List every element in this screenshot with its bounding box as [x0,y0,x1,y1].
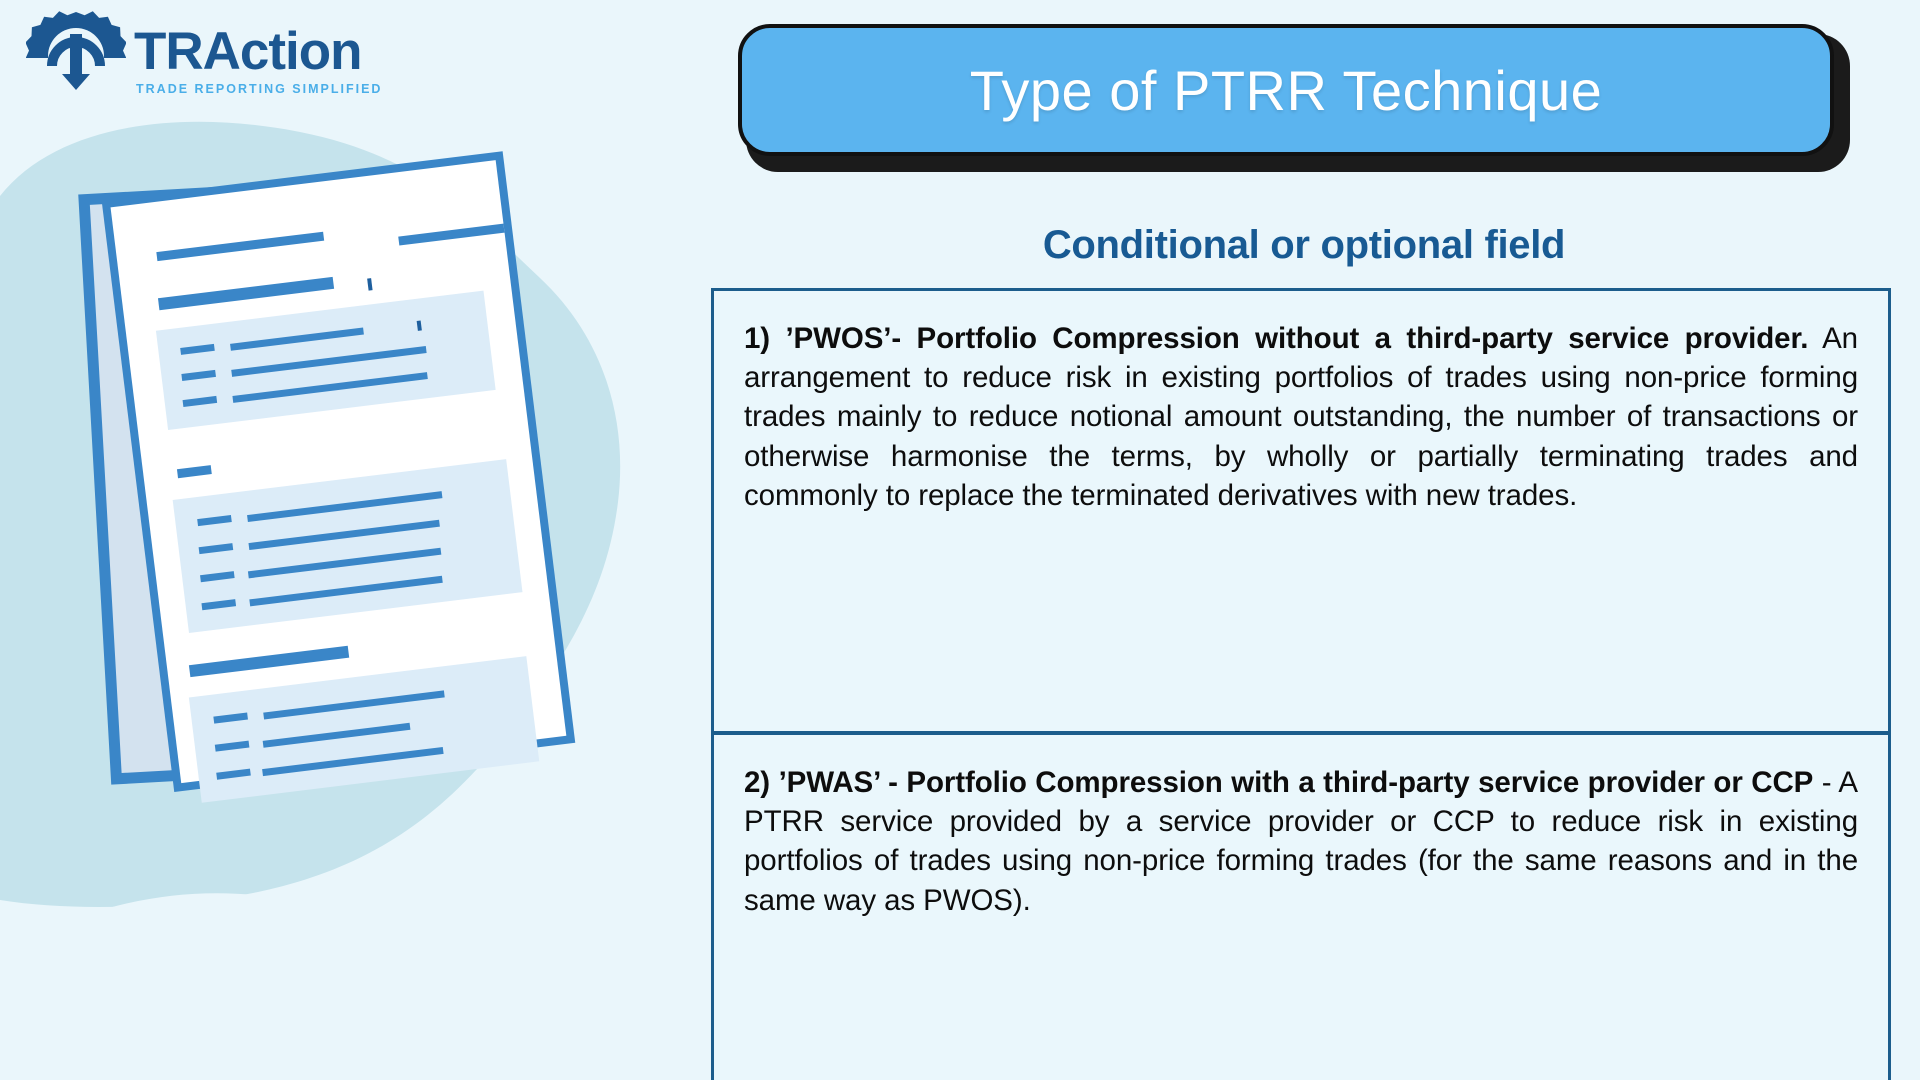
front-document [102,151,577,806]
banner-pill: Type of PTRR Technique [738,24,1834,156]
banner: Type of PTRR Technique [738,24,1850,172]
infographic-page: TRAction TRADE REPORTING SIMPLIFIED Type… [0,0,1920,1080]
section-heading: Conditional or optional field [718,223,1890,268]
stacked-documents-illustration [60,150,620,950]
logo-wordmark: TRAction TRADE REPORTING SIMPLIFIED [134,25,382,96]
definition-text-2: 2) ’PWAS’ - Portfolio Compression with a… [744,763,1858,920]
definition-term-2: 2) ’PWAS’ - Portfolio Compression with a… [744,766,1813,799]
definition-item-pwas: 2) ’PWAS’ - Portfolio Compression with a… [714,735,1888,1079]
gear-arrow-icon [24,8,128,108]
logo-name: TRAction [134,25,362,78]
definition-text-1: 1) ’PWOS’- Portfolio Compression without… [744,319,1858,515]
definitions-panel: 1) ’PWOS’- Portfolio Compression without… [711,288,1891,1080]
page-title: Type of PTRR Technique [970,58,1603,123]
brand-logo[interactable]: TRAction TRADE REPORTING SIMPLIFIED [24,6,364,110]
definition-item-pwos: 1) ’PWOS’- Portfolio Compression without… [714,291,1888,735]
definition-term-1: 1) ’PWOS’- Portfolio Compression without… [744,322,1808,355]
logo-tagline: TRADE REPORTING SIMPLIFIED [136,83,382,96]
